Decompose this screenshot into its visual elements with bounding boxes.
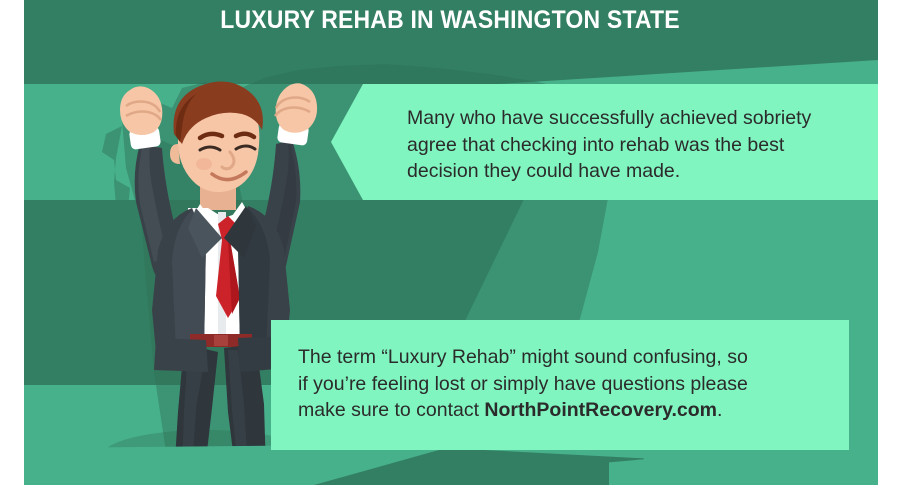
callout-contact-line-3: make sure to contact NorthPointRecovery.…	[298, 397, 828, 424]
callout-contact-text: The term “Luxury Rehab” might sound conf…	[298, 344, 828, 424]
callout-quote-line-3: decision they could have made.	[407, 158, 877, 185]
page-title: LUXURY REHAB IN WASHINGTON STATE	[36, 6, 864, 35]
contact-prefix: make sure to contact	[298, 399, 484, 421]
artwork-area: Many who have successfully achieved sobr…	[24, 0, 878, 485]
callout-contact-line-2: if you’re feeling lost or simply have qu…	[298, 371, 828, 398]
callout-quote-box: Many who have successfully achieved sobr…	[331, 84, 878, 200]
brand-link[interactable]: NorthPointRecovery.com	[484, 399, 717, 421]
callout-quote-text: Many who have successfully achieved sobr…	[407, 105, 877, 185]
callout-contact-box: The term “Luxury Rehab” might sound conf…	[271, 320, 849, 450]
infographic-canvas: Many who have successfully achieved sobr…	[0, 0, 900, 485]
contact-suffix: .	[717, 399, 722, 421]
callout-quote-line-2: agree that checking into rehab was the b…	[407, 132, 877, 159]
callout-quote-line-1: Many who have successfully achieved sobr…	[407, 105, 877, 132]
callout-contact-line-1: The term “Luxury Rehab” might sound conf…	[298, 344, 828, 371]
